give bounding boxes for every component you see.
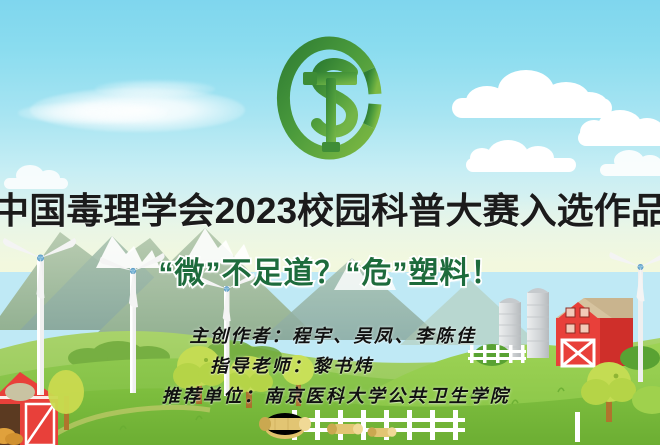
credits-block: 主创作者：程宇、吴凤、李陈佳 指导老师：黎书炜 推荐单位：南京医科大学公共卫生学… [0, 322, 660, 408]
poster-subtitle: “微”不足道？“危”塑料！ [159, 248, 502, 292]
subtitle-band: “微”不足道？“危”塑料！ [0, 249, 660, 291]
credit-line-authors: 主创作者：程宇、吴凤、李陈佳 [190, 322, 477, 348]
poster-canvas: 中国毒理学会2023校园科普大赛入选作品 “微”不足道？“危”塑料！ 主创作者：… [0, 0, 660, 445]
fence-post-right [575, 412, 580, 442]
main-title-band: 中国毒理学会2023校园科普大赛入选作品 [0, 186, 660, 230]
credit-line-institution: 推荐单位：南京医科大学公共卫生学院 [162, 382, 511, 408]
page-title: 中国毒理学会2023校园科普大赛入选作品 [0, 182, 660, 234]
credit-line-advisor: 指导老师：黎书炜 [210, 352, 374, 378]
